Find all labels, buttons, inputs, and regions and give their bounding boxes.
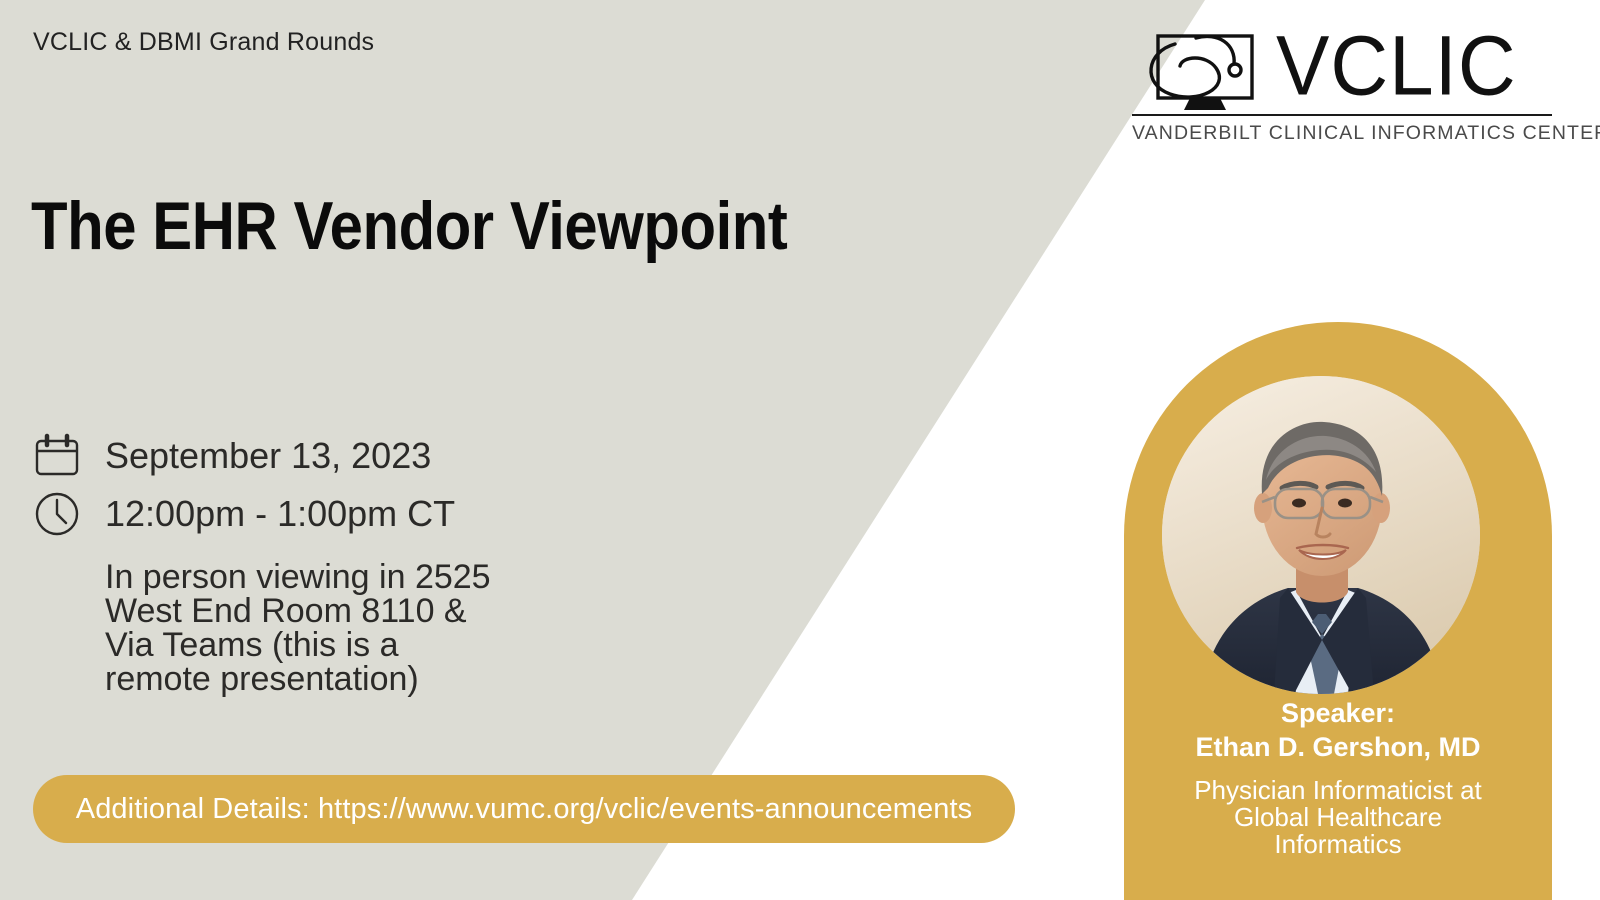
- series-eyebrow: VCLIC & DBMI Grand Rounds: [33, 28, 374, 57]
- event-details: September 13, 2023 12:00pm - 1:00pm CT I…: [33, 432, 673, 696]
- location-line: remote presentation): [105, 662, 673, 696]
- monitor-stethoscope-icon: [1132, 22, 1274, 110]
- speaker-role: Physician Informaticist at Global Health…: [1124, 777, 1552, 858]
- event-time-row: 12:00pm - 1:00pm CT: [33, 490, 673, 538]
- page-title: The EHR Vendor Viewpoint: [31, 192, 787, 261]
- vclic-logo: VCLIC VANDERBILT CLINICAL INFORMATICS CE…: [1132, 22, 1552, 145]
- speaker-headshot-illustration: [1162, 376, 1480, 694]
- location-line: In person viewing in 2525: [105, 560, 673, 594]
- location-line: West End Room 8110 &: [105, 594, 673, 628]
- event-location: In person viewing in 2525 West End Room …: [105, 560, 673, 696]
- speaker-info: Speaker: Ethan D. Gershon, MD Physician …: [1124, 696, 1552, 858]
- event-date-text: September 13, 2023: [105, 432, 431, 480]
- speaker-label: Speaker:: [1124, 696, 1552, 730]
- event-poster: VCLIC & DBMI Grand Rounds The EHR Vendor…: [0, 0, 1600, 900]
- location-line: Via Teams (this is a: [105, 628, 673, 662]
- logo-wordmark: VCLIC: [1276, 24, 1517, 109]
- speaker-role-line: Physician Informaticist at: [1124, 777, 1552, 804]
- clock-icon: [33, 490, 81, 538]
- speaker-role-line: Global Healthcare: [1124, 804, 1552, 831]
- event-date-row: September 13, 2023: [33, 432, 673, 480]
- additional-details-link[interactable]: Additional Details: https://www.vumc.org…: [76, 793, 972, 826]
- logo-tagline: VANDERBILT CLINICAL INFORMATICS CENTER: [1132, 122, 1552, 145]
- speaker-name: Ethan D. Gershon, MD: [1124, 730, 1552, 765]
- additional-details-banner[interactable]: Additional Details: https://www.vumc.org…: [33, 775, 1015, 843]
- left-content-column: VCLIC & DBMI Grand Rounds The EHR Vendor…: [0, 0, 1100, 900]
- event-time-text: 12:00pm - 1:00pm CT: [105, 490, 455, 538]
- logo-divider: [1132, 114, 1552, 116]
- logo-row: VCLIC: [1132, 22, 1552, 110]
- speaker-role-line: Informatics: [1124, 831, 1552, 858]
- speaker-photo: [1162, 376, 1480, 694]
- calendar-icon: [33, 432, 81, 480]
